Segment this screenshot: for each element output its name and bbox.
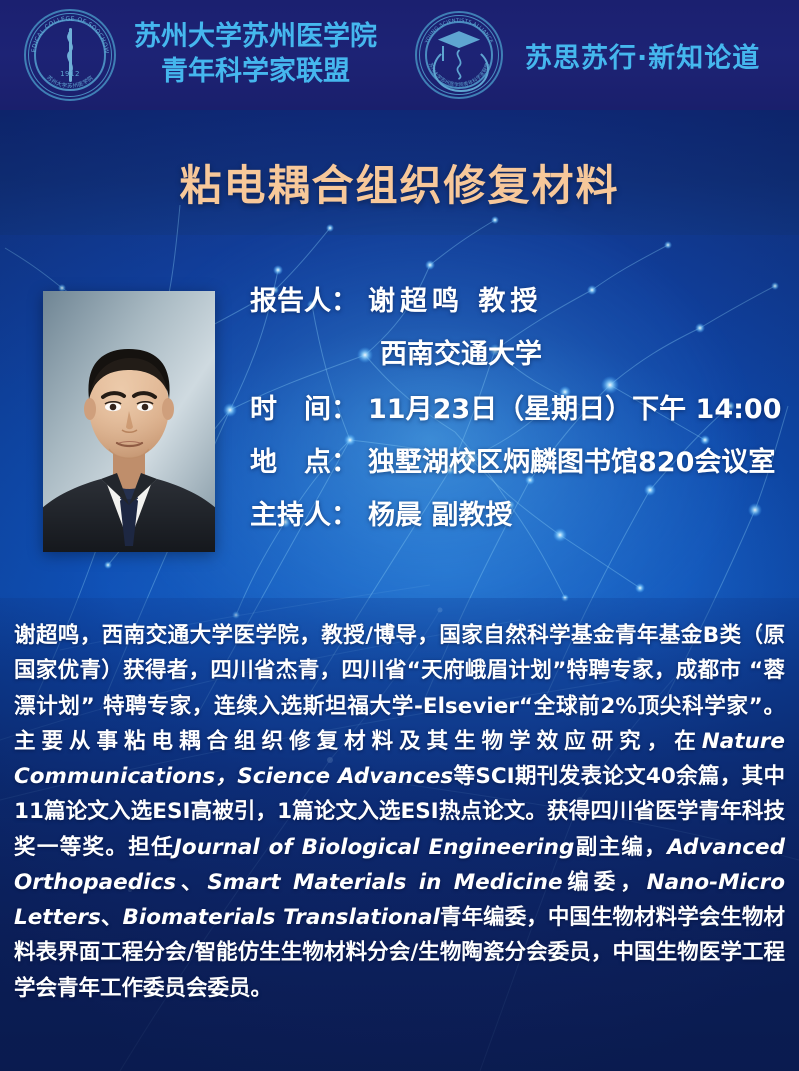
young-scientists-alliance-seal-icon: YOUNG SCIENTISTS ALLIANCE 苏州大学苏州医学院青年科学家…: [413, 9, 505, 101]
seminar-poster: 1912 SOOCHOW MEDICAL COLLEGE OF SOOCHOW …: [0, 0, 799, 1071]
page-title: 粘电耦合组织修复材料: [0, 152, 799, 213]
info-row-location: 地 点： 独墅湖校区炳麟图书馆820会议室: [250, 449, 790, 476]
bio-text: 谢超鸣，西南交通大学医学院，教授/博导，国家自然科学基金青年基金B类（原国家优青…: [14, 623, 785, 754]
organization-line-2: 青年科学家联盟: [134, 55, 377, 90]
journal-name: Biomaterials Translational: [122, 905, 440, 930]
organization-title: 苏州大学苏州医学院 青年科学家联盟: [134, 20, 377, 89]
organization-line-1: 苏州大学苏州医学院: [134, 20, 377, 55]
bio-text: 副主编，: [574, 835, 667, 860]
info-value-speaker: 谢超鸣 教授: [368, 288, 542, 315]
info-row-speaker: 报告人： 谢超鸣 教授: [250, 288, 790, 315]
header-slogan: 苏思苏行·新知论道: [525, 36, 760, 75]
soochow-medical-college-seal-icon: 1912 SOOCHOW MEDICAL COLLEGE OF SOOCHOW …: [22, 7, 118, 103]
info-label-time: 时 间：: [250, 396, 358, 423]
info-value-location: 独墅湖校区炳麟图书馆820会议室: [368, 449, 775, 476]
info-row-time: 时 间： 11月23日（星期日）下午 14:00: [250, 396, 790, 423]
journal-name: Smart Materials in Medicine: [207, 870, 562, 895]
event-details: 报告人： 谢超鸣 教授 西南交通大学 时 间： 11月23日（星期日）下午 14…: [250, 288, 790, 555]
info-value-host: 杨晨 副教授: [368, 502, 512, 529]
header-bar: 1912 SOOCHOW MEDICAL COLLEGE OF SOOCHOW …: [0, 0, 799, 110]
info-value-affiliation: 西南交通大学: [380, 341, 542, 368]
svg-text:SOOCHOW MEDICAL COLLEGE OF SOO: SOOCHOW MEDICAL COLLEGE OF SOOCHOW UNIVE…: [22, 7, 110, 54]
bio-text: 、: [176, 870, 207, 895]
info-row-host: 主持人： 杨晨 副教授: [250, 502, 790, 529]
speaker-portrait-photo: [43, 291, 215, 552]
bio-text: 编委，: [563, 870, 647, 895]
info-label-host: 主持人：: [250, 502, 358, 529]
info-row-affiliation: 西南交通大学: [250, 341, 790, 368]
svg-text:苏州大学苏州医学院: 苏州大学苏州医学院: [45, 73, 94, 89]
speaker-biography: 谢超鸣，西南交通大学医学院，教授/博导，国家自然科学基金青年基金B类（原国家优青…: [14, 618, 785, 1006]
svg-text:YOUNG SCIENTISTS ALLIANCE: YOUNG SCIENTISTS ALLIANCE: [424, 18, 494, 46]
journal-name: Journal of Biological Engineering: [174, 835, 574, 860]
info-value-time: 11月23日（星期日）下午 14:00: [368, 396, 782, 423]
svg-text:苏州大学苏州医学院青年科学家联盟: 苏州大学苏州医学院青年科学家联盟: [427, 62, 491, 89]
info-label-speaker: 报告人：: [250, 288, 358, 315]
bio-text: 、: [101, 905, 123, 930]
info-label-location: 地 点：: [250, 449, 358, 476]
